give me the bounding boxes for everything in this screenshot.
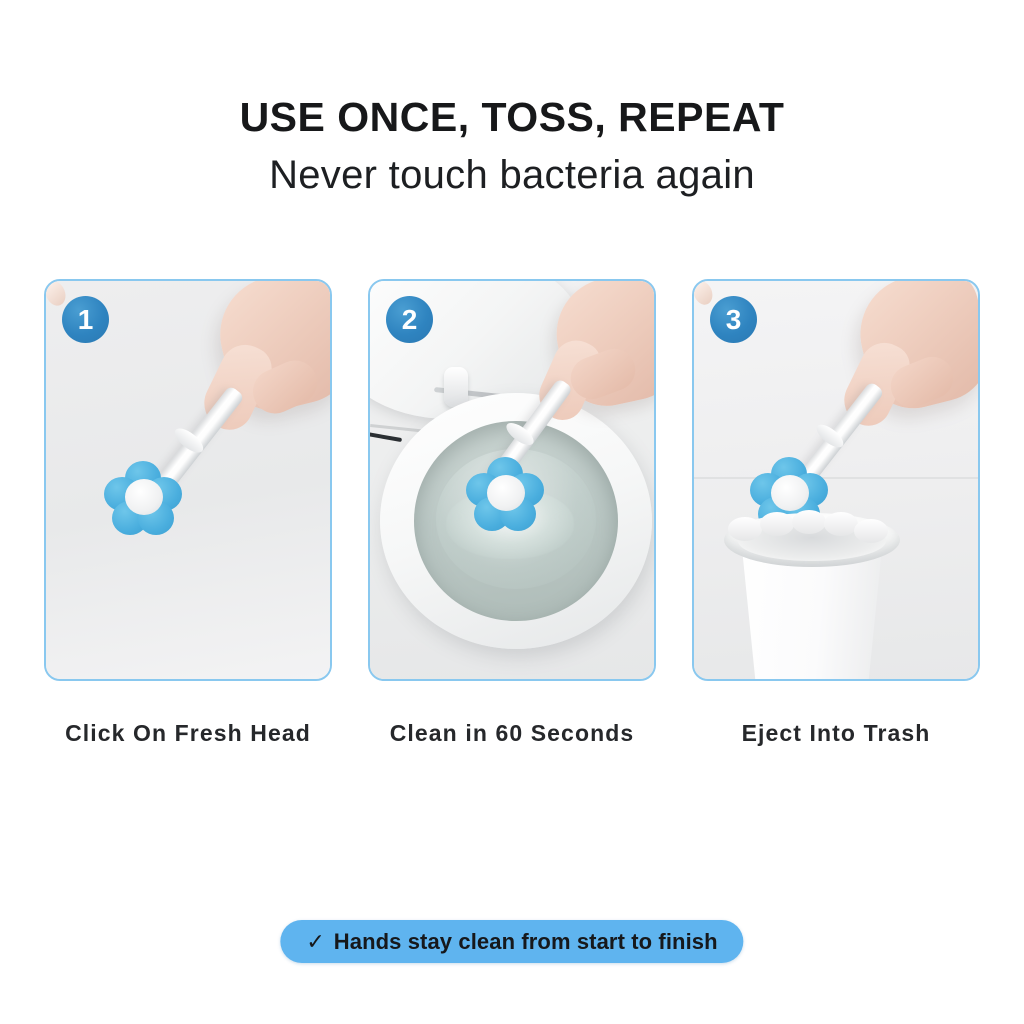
sponge-center-disc: [771, 475, 809, 511]
footer-banner-text: Hands stay clean from start to finish: [334, 929, 718, 955]
step-caption-1: Click On Fresh Head: [44, 720, 332, 747]
sponge-center-disc: [125, 479, 163, 515]
toilet-hinge: [444, 367, 468, 407]
check-icon: ✓: [306, 931, 324, 953]
liner-frill: [792, 510, 826, 534]
page-headline: USE ONCE, TOSS, REPEAT: [0, 96, 1024, 139]
flower-sponge-head: [104, 461, 182, 535]
step-caption-2: Clean in 60 Seconds: [368, 720, 656, 747]
step-badge-2: 2: [386, 296, 433, 343]
step-panel-1[interactable]: 1: [44, 279, 332, 681]
liner-frill: [824, 512, 858, 536]
footer-banner: ✓ Hands stay clean from start to finish: [280, 920, 743, 963]
page-subheadline: Never touch bacteria again: [0, 152, 1024, 198]
step-panels: 1 2: [44, 279, 980, 681]
step-badge-1: 1: [62, 296, 109, 343]
step-caption-3: Eject Into Trash: [692, 720, 980, 747]
liner-frill: [728, 517, 762, 541]
step-panel-2[interactable]: 2: [368, 279, 656, 681]
step-captions: Click On Fresh Head Clean in 60 Seconds …: [44, 720, 980, 747]
flower-sponge-head: [466, 457, 544, 531]
step-panel-3[interactable]: 3: [692, 279, 980, 681]
table-horizon-line: [694, 477, 980, 479]
liner-frill: [854, 519, 888, 543]
liner-frill: [760, 512, 794, 536]
sponge-center-disc: [487, 475, 525, 511]
step-badge-3: 3: [710, 296, 757, 343]
